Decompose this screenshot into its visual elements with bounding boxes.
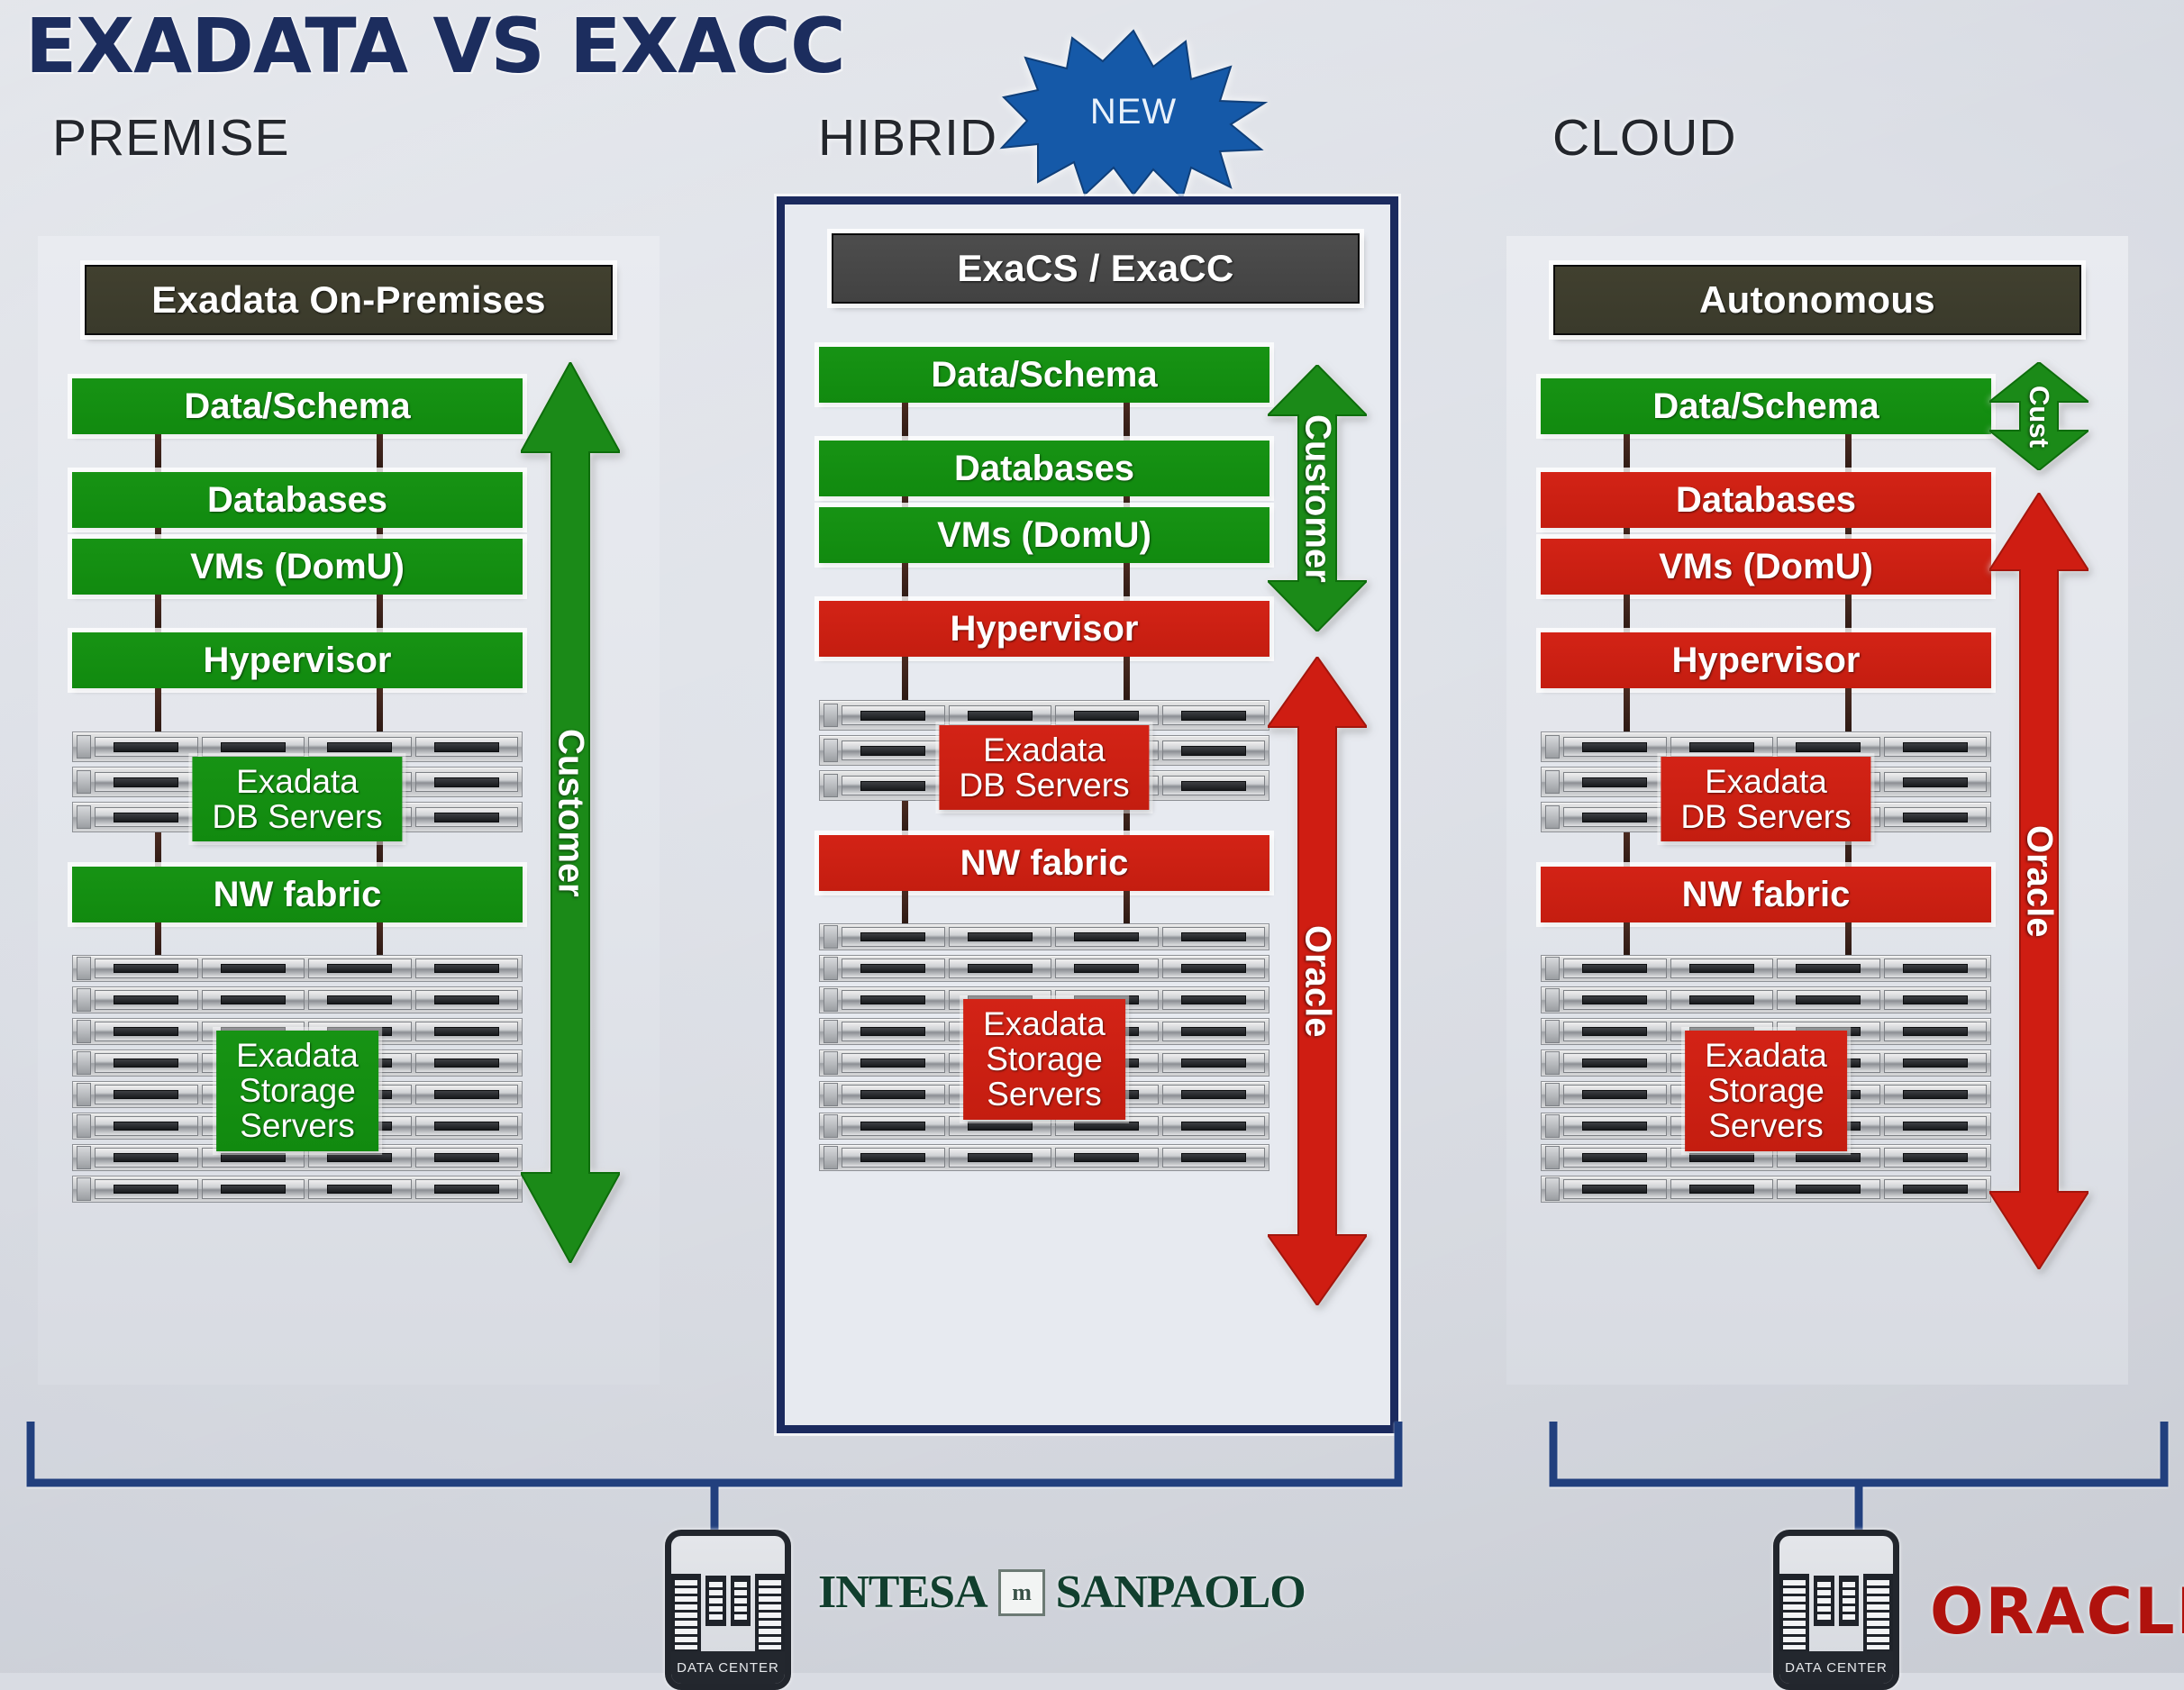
column-label-cloud: CLOUD [1552,108,1737,168]
sanpaolo-text: SANPAOLO [1056,1566,1306,1619]
rack-ear [1545,805,1560,829]
rack-db-servers: Exadata DB Servers [72,731,523,832]
rack-bay [949,959,1052,978]
rack-bay [202,959,305,978]
rack-ear [824,1083,838,1106]
rack-bay [842,705,945,725]
rack-bay [1563,990,1667,1010]
rack-bay [1884,772,1988,792]
intesa-mark-icon: m [998,1569,1045,1616]
data-center-icon-right: DATA CENTER [1773,1530,1899,1690]
column-header-cloud: Autonomous [1553,265,2081,335]
rack-ear [824,704,838,727]
rack-storage-servers: Exadata Storage Servers [72,955,523,1203]
layer-data-schema: Data/Schema [72,378,523,434]
oracle-text: ORACLE [1930,1575,2184,1649]
rack-bay [842,1053,945,1073]
intesa-text: INTESA [818,1566,987,1619]
rack-bay [1670,990,1774,1010]
rack-db-servers: Exadata DB Servers [819,700,1269,801]
connector [72,688,523,731]
rack-ear [77,770,91,794]
rack-ear [1545,735,1560,759]
rack-bay [95,959,198,978]
layer-nw-fabric: NW fabric [819,835,1269,891]
rack-bay [1055,959,1159,978]
double-arrow-icon [1268,657,1367,1305]
layer-stack-cloud: Data/Schema Databases VMs (DomU) Hypervi… [1541,378,1991,1203]
rack-bay [95,772,198,792]
rack-bay [1884,1022,1988,1041]
rack-bay [1162,990,1266,1010]
rack-label-db-servers: Exadata DB Servers [1661,757,1870,841]
rack-bay [1055,705,1159,725]
rack-bay [415,807,519,827]
rack-ear [77,1051,91,1075]
rack-ear [1545,1177,1560,1201]
column-label-premise: PREMISE [52,108,290,168]
rack-bay [95,990,198,1010]
layer-databases: Databases [72,472,523,528]
arrow-cust-cloud: Cust [1989,362,2088,470]
tower-icon [705,1576,726,1626]
rack-bay [1162,1022,1266,1041]
rack-bay [308,959,412,978]
rack-bay [1563,772,1667,792]
rack-bay [842,959,945,978]
double-arrow-icon [1989,493,2088,1269]
rack-bay [95,1022,198,1041]
data-center-caption: DATA CENTER [1779,1651,1893,1684]
connector [1541,434,1991,472]
rack-ear [1545,1146,1560,1169]
rack-bay [202,737,305,757]
rack-bay [1884,959,1988,978]
rack-ear [77,805,91,829]
arrow-customer-premise: Customer [521,362,620,1263]
rack-bay [95,737,198,757]
double-arrow-icon [1268,365,1367,631]
rack-bay [415,959,519,978]
rack-ear [824,957,838,980]
rack-bay [1055,1148,1159,1168]
rack-bay [949,705,1052,725]
tower-icon [731,1576,751,1626]
rack-bay [1162,741,1266,760]
arrow-oracle-cloud: Oracle [1989,493,2088,1269]
connector [72,595,523,632]
rack-bay [949,927,1052,947]
rack-bay [95,1116,198,1136]
rack-bay [308,737,412,757]
rack-bay [1563,1053,1667,1073]
layer-hypervisor: Hypervisor [819,601,1269,657]
rack-bay [1884,1148,1988,1168]
rack-label-storage-servers: Exadata Storage Servers [216,1031,378,1151]
column-premise: Exadata On-Premises Data/Schema Database… [38,236,660,1385]
rack-bay [1670,959,1774,978]
rack-ear [1545,1051,1560,1075]
rack-storage-servers: Exadata Storage Servers [819,923,1269,1171]
rack-bay [415,737,519,757]
rack-ear [77,735,91,759]
rack-bay [415,1053,519,1073]
layer-stack-hibrid: Data/Schema Databases VMs (DomU) Hypervi… [819,347,1269,1171]
rack-db-servers: Exadata DB Servers [1541,731,1991,832]
new-badge-label: NEW [998,92,1269,132]
rack-bay [842,927,945,947]
layer-nw-fabric: NW fabric [1541,867,1991,922]
layer-hypervisor: Hypervisor [72,632,523,688]
connector [819,403,1269,441]
double-arrow-icon [521,362,620,1263]
connector [72,434,523,472]
rack-bay [1162,1053,1266,1073]
rack-ear [1545,1020,1560,1043]
rack-ear [824,1020,838,1043]
rack-bay [1563,1022,1667,1041]
rack-bay [1162,1116,1266,1136]
rack-bay [1055,927,1159,947]
rack-bay [1563,1116,1667,1136]
rack-bay [1884,990,1988,1010]
rack-ear [77,1020,91,1043]
rack-ear [1545,770,1560,794]
rack-bay [202,990,305,1010]
rack-ear [824,1146,838,1169]
rack-bay [1162,959,1266,978]
column-cloud: Autonomous Data/Schema Databases VMs (Do… [1506,236,2128,1385]
rack-ear [824,739,838,762]
column-header-premise: Exadata On-Premises [85,265,613,335]
rack-bay [949,1148,1052,1168]
new-badge: NEW [998,27,1269,198]
rack-bay [95,1179,198,1199]
tower-icon [1863,1574,1893,1653]
rack-bay [1162,1085,1266,1104]
rack-ear [77,1083,91,1106]
rack-bay [842,741,945,760]
rack-bay [1162,705,1266,725]
rack-unit [1541,955,1991,982]
rack-bay [415,772,519,792]
rack-bay [1777,737,1880,757]
rack-ear [77,1114,91,1138]
rack-bay [1884,1179,1988,1199]
tower-group [1779,1547,1893,1653]
rack-ear [77,1146,91,1169]
rack-unit [819,955,1269,982]
data-center-caption: DATA CENTER [671,1651,785,1684]
rack-bay [1162,927,1266,947]
connector [819,496,1269,507]
rack-unit [72,986,523,1013]
rack-ear [824,774,838,797]
rack-unit [72,955,523,982]
rack-bay [95,1053,198,1073]
rack-bay [1884,737,1988,757]
rack-bay [1884,1116,1988,1136]
tower-group [671,1547,785,1653]
rack-bay [1162,776,1266,795]
column-label-hibrid: HIBRID [818,108,997,168]
rack-label-db-servers: Exadata DB Servers [939,725,1149,810]
rack-ear [824,988,838,1012]
connector [819,657,1269,700]
rack-bay [1563,807,1667,827]
arrow-oracle-hibrid: Oracle [1268,657,1367,1305]
connector [72,922,523,955]
rack-label-db-servers: Exadata DB Servers [192,757,402,841]
rack-bay [1563,959,1667,978]
data-center-icon-left: DATA CENTER [665,1530,791,1690]
rack-unit [72,1176,523,1203]
rack-bay [1884,807,1988,827]
rack-bay [1777,959,1880,978]
tower-icon [671,1574,701,1653]
connector [1541,688,1991,731]
layer-vms-domu: VMs (DomU) [72,539,523,595]
connector [72,528,523,539]
rack-bay [842,1085,945,1104]
layer-data-schema: Data/Schema [1541,378,1991,434]
rack-bay [842,1148,945,1168]
rack-bay [95,1085,198,1104]
bracket-icon [1548,1418,2170,1535]
rack-ear [77,1177,91,1201]
bracket-left [25,1418,1404,1535]
intesa-sanpaolo-logo: INTESA m SANPAOLO [818,1566,1306,1619]
rack-ear [1545,1114,1560,1138]
connector [819,891,1269,923]
tower-icon [1814,1576,1834,1626]
rack-ear [77,957,91,980]
rack-bay [415,1022,519,1041]
rack-bay [1777,1179,1880,1199]
rack-ear [1545,1083,1560,1106]
tower-icon [755,1574,785,1653]
rack-bay [415,1085,519,1104]
rack-bay [415,1179,519,1199]
tower-icon [1839,1576,1860,1626]
rack-bay [842,1116,945,1136]
rack-ear [1545,988,1560,1012]
column-hibrid: ExaCS / ExaCC Data/Schema Databases VMs … [777,196,1398,1433]
bracket-right [1548,1418,2170,1535]
rack-unit [1541,1176,1991,1203]
rack-bay [415,1116,519,1136]
double-arrow-icon [1989,362,2088,470]
rack-bay [1884,1085,1988,1104]
rack-bay [1563,1148,1667,1168]
rack-bay [308,1179,412,1199]
tower-icon [1779,1574,1809,1653]
rack-ear [1545,957,1560,980]
rack-bay [1563,737,1667,757]
rack-bay [1777,990,1880,1010]
rack-ear [77,988,91,1012]
rack-bay [308,990,412,1010]
rack-bay [1670,737,1774,757]
rack-bay [415,990,519,1010]
connector [1541,922,1991,955]
connector [1541,595,1991,632]
rack-bay [95,807,198,827]
rack-ear [824,1114,838,1138]
layer-nw-fabric: NW fabric [72,867,523,922]
rack-label-storage-servers: Exadata Storage Servers [1685,1031,1847,1151]
layer-stack-premise: Data/Schema Databases VMs (DomU) Hypervi… [72,378,523,1203]
rack-bay [842,776,945,795]
rack-ear [824,925,838,949]
bracket-icon [25,1418,1404,1535]
layer-databases: Databases [819,441,1269,496]
rack-bay [1563,1179,1667,1199]
page-title: EXADATA VS EXACC [25,2,845,90]
rack-storage-servers: Exadata Storage Servers [1541,955,1991,1203]
rack-unit [1541,986,1991,1013]
rack-ear [824,1051,838,1075]
arrow-customer-hibrid: Customer [1268,365,1367,631]
rack-bay [1563,1085,1667,1104]
column-header-hibrid: ExaCS / ExaCC [832,233,1360,304]
layer-databases: Databases [1541,472,1991,528]
rack-bay [95,1148,198,1168]
connector [1541,528,1991,539]
rack-unit [819,923,1269,950]
rack-bay [842,990,945,1010]
oracle-logo: ORACLE® [1930,1575,2184,1649]
rack-bay [1670,1179,1774,1199]
connector [819,563,1269,601]
layer-hypervisor: Hypervisor [1541,632,1991,688]
layer-data-schema: Data/Schema [819,347,1269,403]
rack-bay [415,1148,519,1168]
rack-unit [819,1144,1269,1171]
rack-bay [1884,1053,1988,1073]
rack-bay [202,1179,305,1199]
rack-label-storage-servers: Exadata Storage Servers [963,999,1125,1120]
rack-bay [842,1022,945,1041]
rack-bay [1162,1148,1266,1168]
layer-vms-domu: VMs (DomU) [1541,539,1991,595]
layer-vms-domu: VMs (DomU) [819,507,1269,563]
